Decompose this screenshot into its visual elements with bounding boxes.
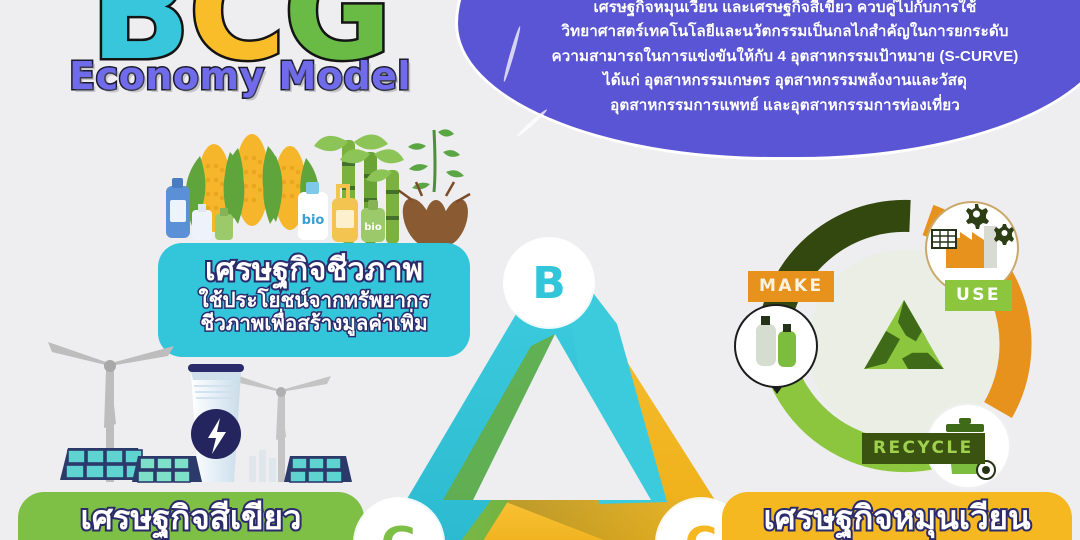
make-icon <box>735 305 817 394</box>
bubble-line: เศรษฐกิจหมุนเวียน และเศรษฐกิจสีเขียว ควบ… <box>480 0 1080 20</box>
bubble-line: วิทยาศาสตร์เทคโนโลยีและนวัตกรรมเป็นกลไกส… <box>480 20 1080 44</box>
bubble-line: อุตสาหกรรมการแพทย์ และอุตสาหกรรมการท่องเ… <box>480 94 1080 118</box>
card-circular-title: เศรษฐกิจหมุนเวียน <box>722 497 1072 539</box>
badge-b[interactable]: B <box>505 239 593 327</box>
wheel-label-recycle[interactable]: RECYCLE <box>862 433 985 464</box>
bcg-logo: BCG Economy Model <box>40 0 440 116</box>
svg-text:bio: bio <box>302 213 325 228</box>
infographic-canvas: เศรษฐกิจหมุนเวียน และเศรษฐกิจสีเขียว ควบ… <box>0 0 1080 540</box>
wheel-label-make[interactable]: MAKE <box>748 271 834 302</box>
bubble-line: ความสามารถในการแข่งขันให้กับ 4 อุตสาหกรร… <box>480 45 1080 69</box>
intro-bubble-text: เศรษฐกิจหมุนเวียน และเศรษฐกิจสีเขียว ควบ… <box>480 0 1080 118</box>
svg-text:bio: bio <box>364 222 382 233</box>
green-illustration <box>20 330 360 510</box>
logo-subtitle: Economy Model <box>40 54 440 98</box>
card-circular-economy[interactable]: เศรษฐกิจหมุนเวียน <box>722 492 1072 540</box>
wheel-label-use[interactable]: USE <box>945 280 1012 311</box>
card-green-economy[interactable]: เศรษฐกิจสีเขียว <box>18 492 364 540</box>
card-green-title: เศรษฐกิจสีเขียว <box>18 497 364 539</box>
bio-illustration: bio bio <box>160 126 480 254</box>
bcg-letters: BCG <box>40 0 440 56</box>
bubble-line: ได้แก่ อุตสาหกรรมเกษตร อุตสาหกรรมพลังงาน… <box>480 69 1080 93</box>
